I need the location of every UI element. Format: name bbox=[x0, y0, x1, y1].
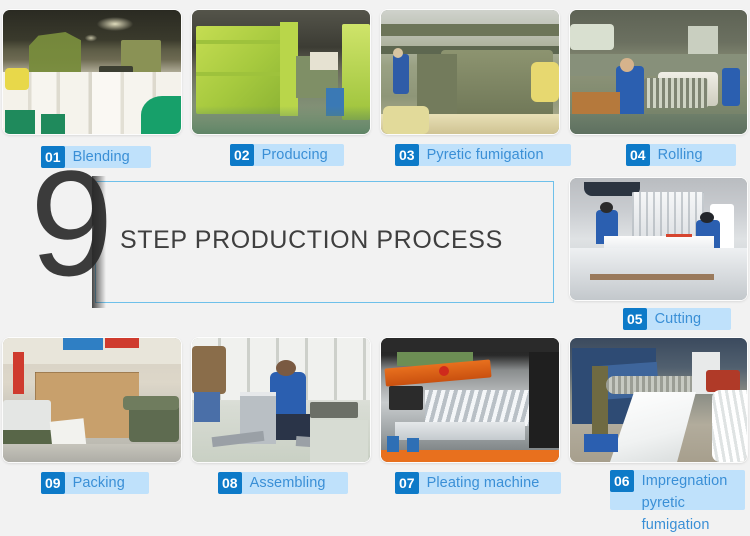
step-photo-07[interactable]: 07 Pleating machine bbox=[381, 338, 559, 462]
banner: 9 STEP PRODUCTION PROCESS bbox=[0, 170, 560, 315]
step-chip-03[interactable]: 03 Pyretic fumigation bbox=[395, 144, 571, 166]
step-number-03: 03 bbox=[395, 144, 419, 166]
step-photo-08[interactable]: 08 Assembling bbox=[192, 338, 370, 462]
step-number-07: 07 bbox=[395, 472, 419, 494]
step-label-02: Producing bbox=[254, 144, 335, 166]
step-number-08: 08 bbox=[218, 472, 242, 494]
photo-producing bbox=[192, 10, 370, 134]
step-number-04: 04 bbox=[626, 144, 650, 166]
step-label-07: Pleating machine bbox=[419, 472, 552, 494]
step-chip-07[interactable]: 07 Pleating machine bbox=[395, 472, 561, 494]
step-number-02: 02 bbox=[230, 144, 254, 166]
step-label-08: Assembling bbox=[242, 472, 339, 494]
photo-packing bbox=[3, 338, 181, 462]
photo-impregnation bbox=[570, 338, 747, 462]
big-number-shadow bbox=[92, 176, 106, 308]
step-label-05: Cutting bbox=[647, 308, 722, 330]
step-number-05: 05 bbox=[623, 308, 647, 330]
step-photo-05[interactable]: 05 Cutting bbox=[570, 178, 747, 300]
step-chip-09[interactable]: 09 Packing bbox=[41, 472, 149, 494]
step-chip-02[interactable]: 02 Producing bbox=[230, 144, 344, 166]
step-label-04: Rolling bbox=[650, 144, 727, 166]
step-photo-03[interactable]: 03 Pyretic fumigation bbox=[381, 10, 559, 134]
step-number-09: 09 bbox=[41, 472, 65, 494]
step-label-03: Pyretic fumigation bbox=[419, 144, 562, 166]
step-chip-05[interactable]: 05 Cutting bbox=[623, 308, 731, 330]
photo-cutting bbox=[570, 178, 747, 300]
step-chip-06[interactable]: 06 Impregnation pyretic fumigation bbox=[610, 470, 745, 510]
step-photo-09[interactable]: 09 Packing bbox=[3, 338, 181, 462]
step-photo-02[interactable]: 02 Producing bbox=[192, 10, 370, 134]
step-chip-04[interactable]: 04 Rolling bbox=[626, 144, 736, 166]
step-photo-04[interactable]: 04 Rolling bbox=[570, 10, 747, 134]
step-photo-01[interactable]: 01 Blending bbox=[3, 10, 181, 134]
photo-blending bbox=[3, 10, 181, 134]
step-label-09: Packing bbox=[65, 472, 140, 494]
step-chip-08[interactable]: 08 Assembling bbox=[218, 472, 348, 494]
step-photo-06[interactable]: 06 Impregnation pyretic fumigation bbox=[570, 338, 747, 462]
photo-pleating-machine bbox=[381, 338, 559, 462]
step-label-06: Impregnation pyretic fumigation bbox=[634, 470, 736, 536]
step-number-06: 06 bbox=[610, 470, 634, 492]
photo-assembling bbox=[192, 338, 370, 462]
photo-pyretic-fumigation bbox=[381, 10, 559, 134]
banner-title: STEP PRODUCTION PROCESS bbox=[120, 226, 503, 255]
production-process-infographic: 01 Blending 02 Producing bbox=[0, 0, 750, 515]
photo-rolling bbox=[570, 10, 747, 134]
